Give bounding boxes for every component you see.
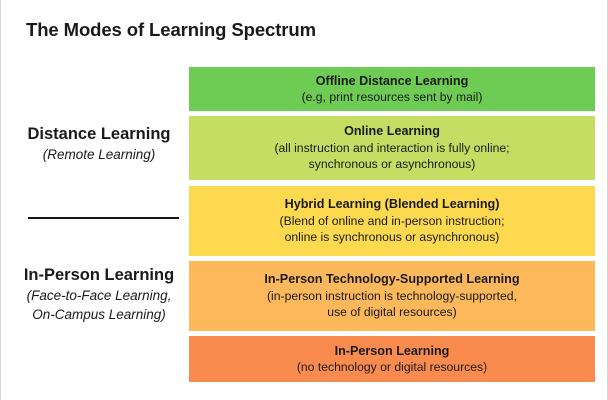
- band-description: (Blend of online and in-person instructi…: [280, 213, 505, 246]
- category-title: In-Person Learning: [9, 265, 189, 286]
- band-label: Offline Distance Learning: [316, 73, 469, 90]
- category-alias: On-Campus Learning): [9, 306, 189, 325]
- category-aliases: (Remote Learning): [9, 146, 189, 165]
- band-description-line: use of digital resources): [267, 304, 517, 320]
- band-description: (no technology or digital resources): [297, 359, 487, 375]
- page-title: The Modes of Learning Spectrum: [26, 19, 316, 41]
- band-description-line: (e.g, print resources sent by mail): [302, 89, 483, 105]
- category-divider-rule: [28, 217, 179, 219]
- spectrum-band: Offline Distance Learning (e.g, print re…: [189, 67, 595, 111]
- category-title: Distance Learning: [9, 124, 189, 145]
- band-label: Hybrid Learning (Blended Learning): [285, 196, 500, 213]
- band-label: In-Person Learning: [335, 343, 450, 360]
- category-aliases: (Face-to-Face Learning, On-Campus Learni…: [9, 287, 189, 325]
- band-description-line: synchronous or asynchronous): [274, 156, 509, 172]
- band-label: Online Learning: [344, 123, 440, 140]
- band-description-line: (Blend of online and in-person instructi…: [280, 213, 505, 229]
- category-alias: (Remote Learning): [9, 146, 189, 165]
- category-distance-learning: Distance Learning (Remote Learning): [9, 124, 189, 165]
- spectrum-band: In-Person Technology-Supported Learning …: [189, 261, 595, 331]
- band-description: (in-person instruction is technology-sup…: [267, 288, 517, 321]
- band-description-line: (all instruction and interaction is full…: [274, 140, 509, 156]
- category-alias: (Face-to-Face Learning,: [9, 287, 189, 306]
- band-description-line: (no technology or digital resources): [297, 359, 487, 375]
- category-in-person-learning: In-Person Learning (Face-to-Face Learnin…: [9, 265, 189, 324]
- band-description: (all instruction and interaction is full…: [274, 140, 509, 173]
- band-description: (e.g, print resources sent by mail): [302, 89, 483, 105]
- band-label: In-Person Technology-Supported Learning: [264, 271, 519, 288]
- band-description-line: (in-person instruction is technology-sup…: [267, 288, 517, 304]
- spectrum-band: Hybrid Learning (Blended Learning) (Blen…: [189, 186, 595, 256]
- band-description-line: online is synchronous or asynchronous): [280, 229, 505, 245]
- slide-canvas: The Modes of Learning Spectrum Distance …: [0, 0, 608, 400]
- spectrum-band: Online Learning (all instruction and int…: [189, 116, 595, 180]
- spectrum-band: In-Person Learning (no technology or dig…: [189, 336, 595, 382]
